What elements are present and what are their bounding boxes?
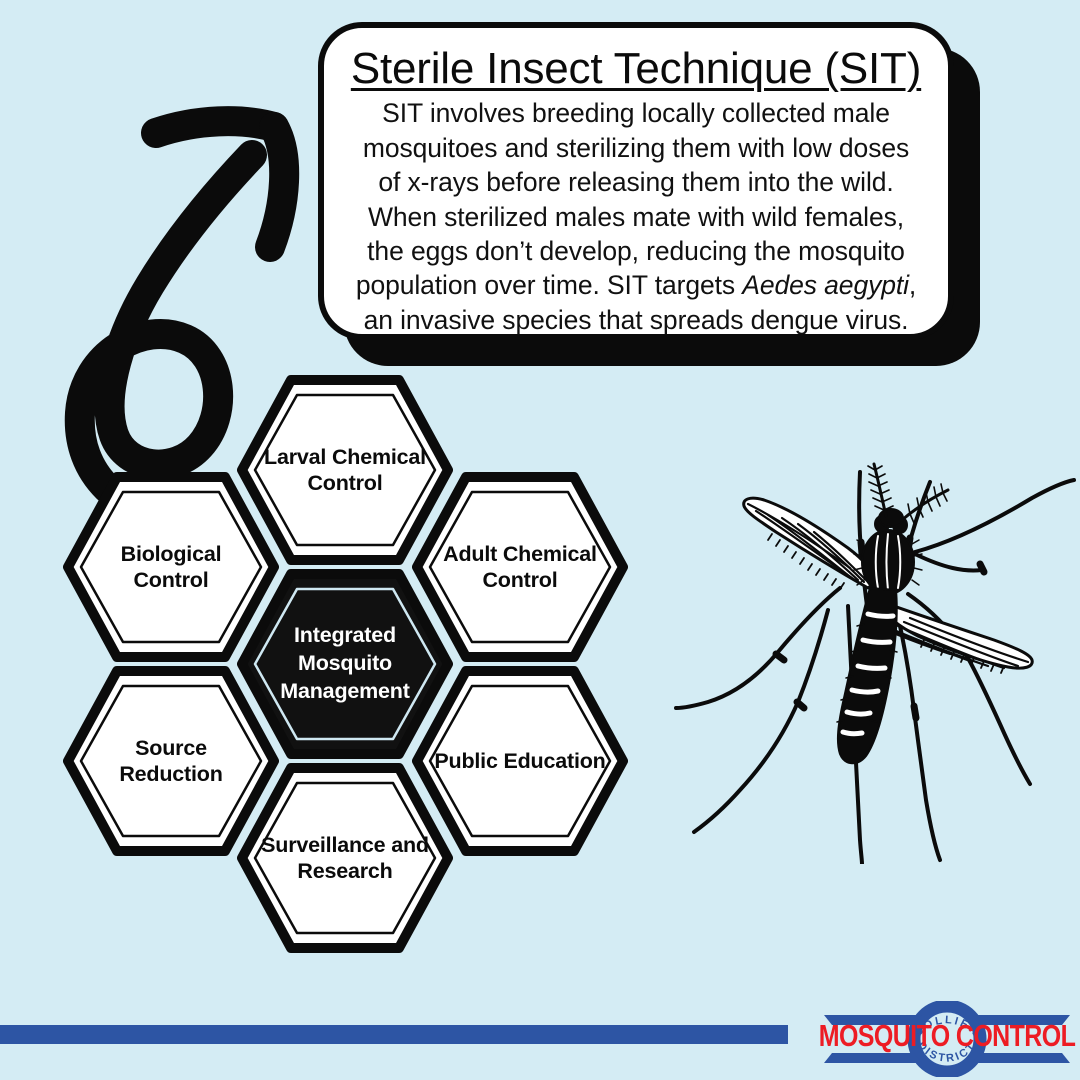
- logo-main-text: MOSQUITO CONTROL: [819, 1019, 1076, 1053]
- card-description: SIT involves breeding locally collected …: [350, 96, 922, 337]
- mosquito-illustration: [672, 372, 1080, 864]
- sit-info-card: Sterile Insect Technique (SIT) SIT invol…: [318, 22, 954, 340]
- hex-surveillance-and-research[interactable]: Surveillance and Research: [237, 763, 453, 953]
- collier-mosquito-control-district-logo: COLLIER DISTRICT MOSQUITO CONTROL: [818, 1001, 1076, 1077]
- integrated-mosquito-management-hex-diagram: Larval Chemical Control Biological Contr…: [55, 375, 675, 985]
- footer-accent-bar: [0, 1025, 788, 1044]
- card-title: Sterile Insect Technique (SIT): [350, 46, 922, 92]
- card-body-panel: Sterile Insect Technique (SIT) SIT invol…: [318, 22, 954, 340]
- infographic-canvas: Sterile Insect Technique (SIT) SIT invol…: [0, 0, 1080, 1080]
- species-name: Aedes aegypti: [742, 270, 909, 300]
